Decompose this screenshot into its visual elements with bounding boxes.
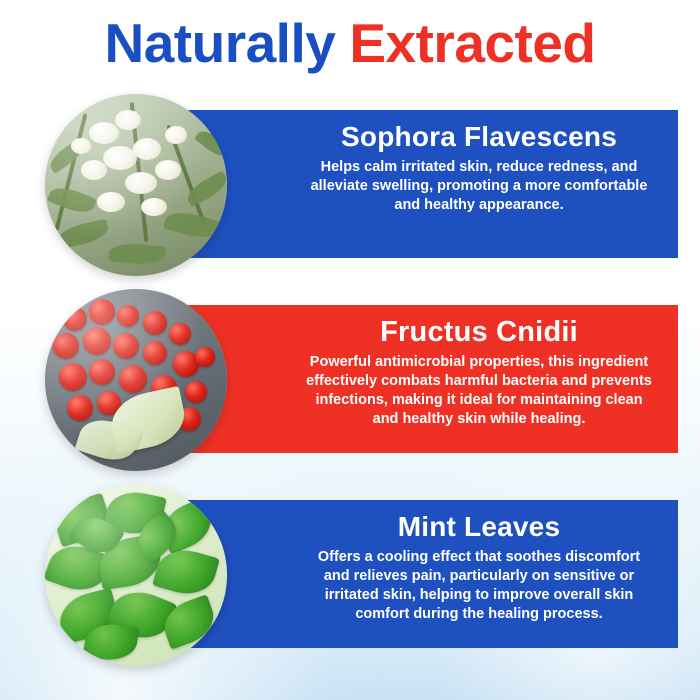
ingredient-description: Offers a cooling effect that soothes dis… [306,548,652,624]
title-word-accent: Extracted [349,12,595,74]
ingredient-image-cnidii [45,289,227,471]
ingredient-image-sophora [45,94,227,276]
ingredient-row: Sophora Flavescens Helps calm irritated … [0,90,700,280]
page-title: NaturallyExtracted [0,8,700,78]
ingredient-row: Mint Leaves Offers a cooling effect that… [0,480,700,670]
ingredient-poster: NaturallyExtracted Sophora Flavescens He… [0,0,700,700]
ingredient-description: Helps calm irritated skin, reduce rednes… [306,158,652,215]
ingredient-name: Fructus Cnidii [306,315,652,349]
sophora-illustration [45,94,227,276]
ingredient-banner: Sophora Flavescens Helps calm irritated … [148,110,678,258]
ingredient-name: Sophora Flavescens [306,120,652,154]
ingredient-description: Powerful antimicrobial properties, this … [306,353,652,429]
cnidii-illustration [45,289,227,471]
ingredient-banner: Fructus Cnidii Powerful antimicrobial pr… [148,305,678,453]
ingredient-banner: Mint Leaves Offers a cooling effect that… [148,500,678,648]
ingredient-row: Fructus Cnidii Powerful antimicrobial pr… [0,285,700,475]
ingredient-name: Mint Leaves [306,510,652,544]
ingredient-image-mint [45,484,227,666]
title-word-primary: Naturally [104,12,335,74]
mint-illustration [45,484,227,666]
